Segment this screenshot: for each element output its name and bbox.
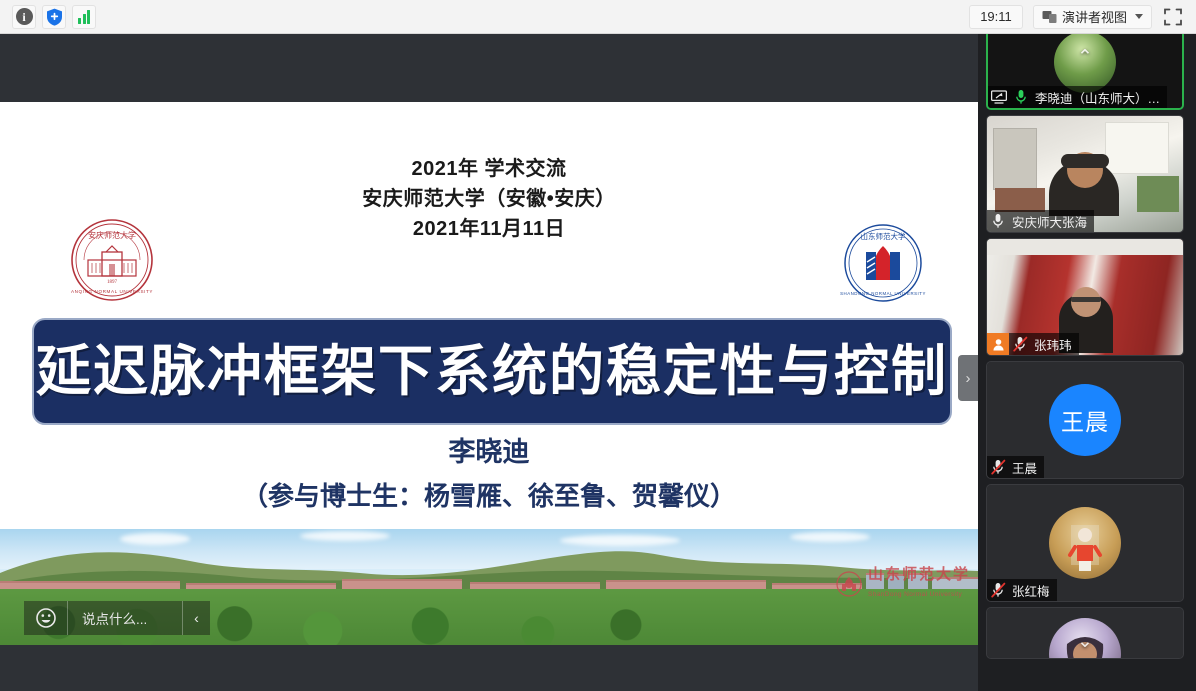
participant-tile[interactable]: ⌃ 李晓迪（山东师大）…: [986, 34, 1184, 110]
watermark-en: ShanDong Normal University: [868, 591, 962, 598]
mic-muted-icon: [987, 456, 1009, 478]
avatar-initials: 王晨: [1061, 403, 1109, 437]
toolbar-right-group: 19:11 演讲者视图: [969, 5, 1196, 29]
fullscreen-button[interactable]: [1162, 6, 1184, 28]
slide-title: 延迟脉冲框架下系统的稳定性与控制: [36, 344, 948, 399]
participant-namebar: 安庆师大张海: [987, 210, 1094, 232]
screen-share-icon: [988, 86, 1010, 108]
participant-name: 张红梅: [1009, 581, 1050, 600]
security-button[interactable]: [42, 5, 66, 29]
chat-collapse-icon[interactable]: ‹: [182, 601, 210, 635]
participant-name: 王晨: [1009, 458, 1037, 477]
svg-text:ANQING NORMAL UNIVERSITY: ANQING NORMAL UNIVERSITY: [71, 289, 153, 294]
slide-header: 2021年 学术交流 安庆师范大学（安徽•安庆） 2021年11月11日: [0, 154, 978, 244]
shield-plus-icon: [46, 8, 63, 26]
watermark-seal-icon: [836, 571, 862, 597]
participant-filmstrip[interactable]: ⌃ 李晓迪（山东师大）…: [978, 34, 1196, 691]
participant-tile[interactable]: 王晨 王晨: [986, 361, 1184, 479]
signal-bars-icon: [78, 10, 90, 24]
participant-namebar: 张玮玮: [987, 333, 1079, 355]
participant-name: 张玮玮: [1031, 335, 1072, 354]
info-button[interactable]: i: [12, 5, 36, 29]
slide-header-line-3: 2021年11月11日: [0, 214, 978, 244]
svg-text:SHANDONG NORMAL UNIVERSITY: SHANDONG NORMAL UNIVERSITY: [840, 291, 926, 296]
participant-tile[interactable]: 张玮玮: [986, 238, 1184, 356]
shared-screen-stage[interactable]: 安庆师范大学 1897 ANQING NORMAL UNIVERSITY 山东师…: [0, 34, 978, 691]
speaker-view-icon: [1042, 10, 1056, 23]
participant-tile[interactable]: 张红梅: [986, 484, 1184, 602]
avatar: [1049, 507, 1121, 579]
info-icon: i: [16, 8, 33, 25]
participant-tile[interactable]: ⌄: [986, 607, 1184, 659]
chat-overlay-bar[interactable]: 说点什么... ‹: [24, 601, 210, 635]
collapse-panel-handle[interactable]: ›: [958, 355, 978, 401]
cloud: [300, 531, 390, 541]
slide-header-line-2: 安庆师范大学（安徽•安庆）: [0, 184, 978, 214]
watermark-text: 山东师范大学 ShanDong Normal University: [868, 567, 970, 601]
cloud: [790, 532, 870, 542]
slide-header-line-1: 2021年 学术交流: [0, 154, 978, 184]
participant-name: 安庆师大张海: [1009, 212, 1087, 231]
mic-on-icon: [987, 210, 1009, 232]
view-mode-label: 演讲者视图: [1062, 7, 1127, 26]
avatar: 王晨: [1049, 384, 1121, 456]
participant-namebar: 李晓迪（山东师大）…: [988, 86, 1167, 108]
scroll-up-icon[interactable]: ⌃: [1077, 46, 1093, 69]
mic-on-icon: [1010, 86, 1032, 108]
mic-muted-icon: [987, 579, 1009, 601]
presentation-slide: 安庆师范大学 1897 ANQING NORMAL UNIVERSITY 山东师…: [0, 102, 978, 645]
participant-tile[interactable]: 安庆师大张海: [986, 115, 1184, 233]
scroll-down-icon[interactable]: ⌄: [1077, 630, 1093, 653]
chevron-down-icon: [1135, 14, 1143, 19]
participant-namebar: 王晨: [987, 456, 1044, 478]
mic-muted-icon: [1009, 333, 1031, 355]
view-mode-dropdown[interactable]: 演讲者视图: [1033, 5, 1152, 29]
participant-namebar: 张红梅: [987, 579, 1057, 601]
host-badge-icon: [987, 333, 1009, 355]
toolbar-left-icons: i: [0, 5, 96, 29]
emoji-smile-icon[interactable]: [24, 601, 68, 635]
watermark-cn: 山东师范大学: [868, 567, 970, 583]
presenter-name: 李晓迪: [0, 432, 978, 472]
chat-input[interactable]: 说点什么...: [68, 608, 182, 628]
network-stats-button[interactable]: [72, 5, 96, 29]
fullscreen-icon: [1162, 6, 1184, 28]
participating-students: （参与博士生：杨雪雁、徐至鲁、贺馨仪）: [0, 472, 978, 520]
top-toolbar: i 19:11 演讲者视图: [0, 0, 1196, 34]
meeting-clock: 19:11: [969, 5, 1023, 29]
slide-title-banner: 延迟脉冲框架下系统的稳定性与控制: [32, 318, 952, 425]
participant-name: 李晓迪（山东师大）…: [1032, 88, 1160, 107]
svg-text:1897: 1897: [107, 280, 118, 285]
slide-watermark: 山东师范大学 ShanDong Normal University: [836, 567, 970, 601]
